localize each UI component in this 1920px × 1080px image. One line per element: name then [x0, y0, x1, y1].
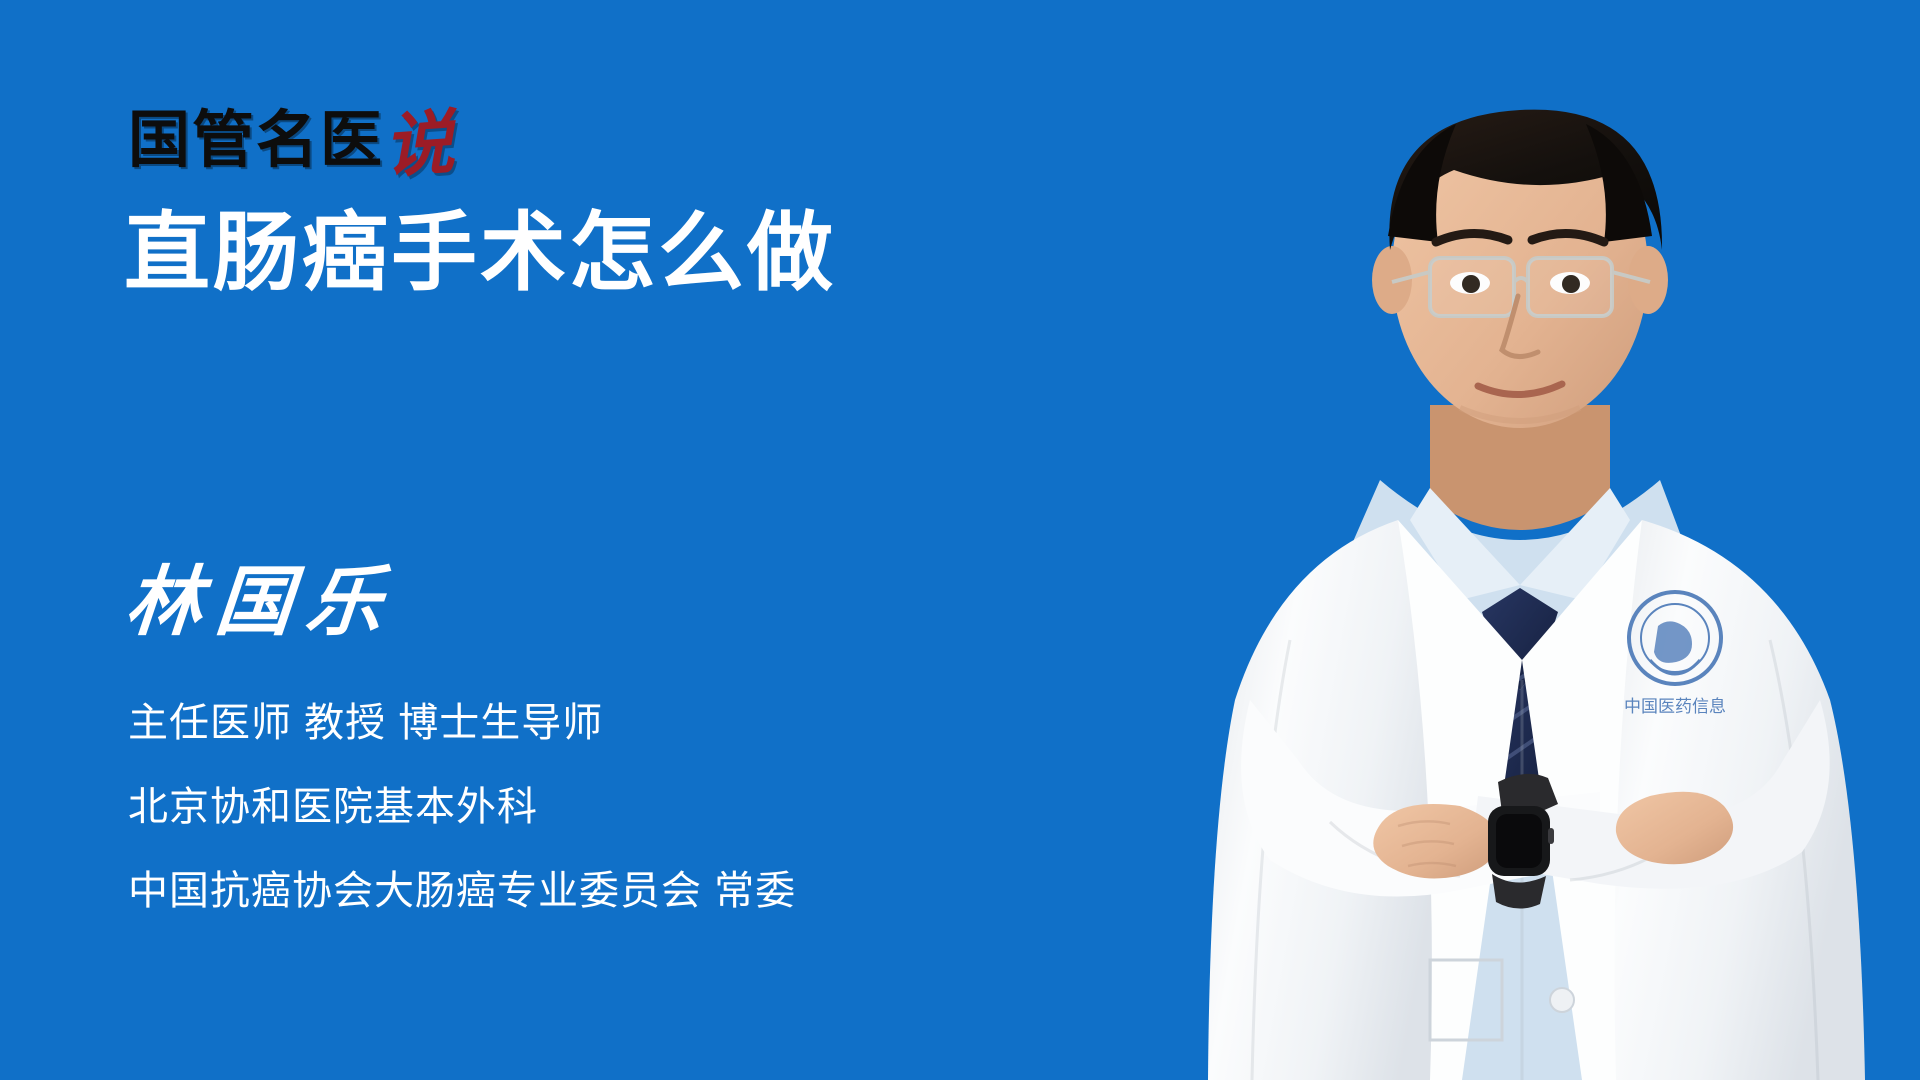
- doctor-portrait-photo: 中国医药信息: [1130, 0, 1920, 1080]
- program-logo: 国管名医 说: [128, 88, 456, 172]
- doctor-portrait-illustration: 中国医药信息: [1130, 0, 1920, 1080]
- lens-left: [1430, 258, 1514, 316]
- credential-line: 北京协和医院基本外科: [128, 784, 796, 830]
- title-card: 国管名医 说 直肠癌手术怎么做 林国乐 主任医师 教授 博士生导师 北京协和医院…: [0, 0, 1920, 1080]
- left-text-column: 国管名医 说 直肠癌手术怎么做 林国乐 主任医师 教授 博士生导师 北京协和医院…: [0, 0, 1150, 1080]
- credential-line: 中国抗癌协会大肠癌专业委员会 常委: [128, 868, 796, 914]
- lens-right: [1528, 258, 1612, 316]
- doctor-credentials: 主任医师 教授 博士生导师 北京协和医院基本外科 中国抗癌协会大肠癌专业委员会 …: [128, 700, 796, 914]
- program-logo-accent-text: 说: [382, 111, 456, 178]
- coat-button: [1550, 988, 1574, 1012]
- page-title: 直肠癌手术怎么做: [124, 205, 836, 301]
- doctor-name: 林国乐: [122, 560, 399, 644]
- credential-line: 主任医师 教授 博士生导师: [128, 700, 796, 746]
- program-logo-main-text: 国管名医: [128, 110, 384, 172]
- chest-badge-label: 中国医药信息: [1624, 697, 1726, 717]
